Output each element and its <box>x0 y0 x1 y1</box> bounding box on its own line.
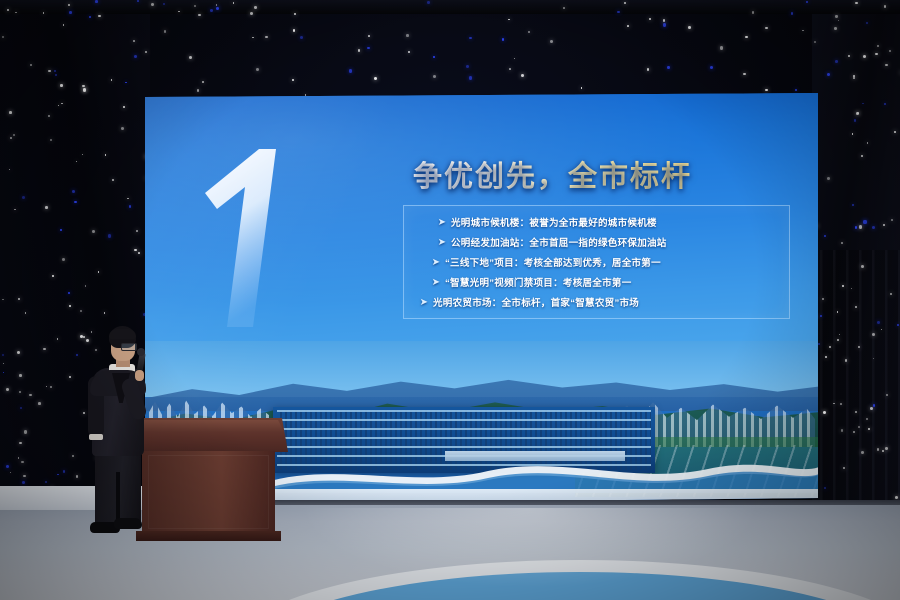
list-item-label: “智慧光明”视频门禁项目：考核居全市第一 <box>445 275 632 289</box>
speaker-leg-gap <box>116 472 120 524</box>
speaker-shoe-right <box>114 518 142 529</box>
photo-wave-roof <box>263 459 818 493</box>
speaker-hair-front <box>109 329 136 339</box>
list-item-label: 光明农贸市场：全市标杆，首家“智慧农贸”市场 <box>433 295 639 309</box>
speaker <box>78 326 158 536</box>
list-item: ➤ 公明经发加油站：全市首屈一指的绿色环保加油站 <box>413 232 813 252</box>
list-item: ➤ “智慧光明”视频门禁项目：考核居全市第一 <box>413 272 813 292</box>
podium-body <box>142 451 275 533</box>
speaker-shirt-cuff <box>89 434 103 440</box>
list-item: ➤ 光明农贸市场：全市标杆，首家“智慧农贸”市场 <box>413 292 813 312</box>
list-item-label: “三线下地”项目：考核全部达到优秀，居全市第一 <box>445 255 661 269</box>
chevron-right-icon: ➤ <box>433 217 451 228</box>
slide-bullet-list: ➤ 光明城市候机楼：被誉为全市最好的城市候机楼 ➤ 公明经发加油站：全市首屈一指… <box>413 212 813 312</box>
speaker-hand <box>135 370 144 381</box>
list-item-label: 公明经发加油站：全市首屈一指的绿色环保加油站 <box>451 235 667 249</box>
microphone-head-icon <box>137 348 145 356</box>
list-item: ➤ “三线下地”项目：考核全部达到优秀，居全市第一 <box>413 252 813 272</box>
chevron-right-icon: ➤ <box>415 297 433 308</box>
curtain-folds <box>820 250 900 520</box>
list-item: ➤ 光明城市候机楼：被誉为全市最好的城市候机楼 <box>413 212 813 232</box>
chevron-right-icon: ➤ <box>427 277 445 288</box>
chevron-right-icon: ➤ <box>427 257 445 268</box>
ceiling-band <box>0 0 900 14</box>
slide-headline: 争优创先，全市标杆 <box>413 153 692 195</box>
screenshot-root: 争优创先，全市标杆 ➤ 光明城市候机楼：被誉为全市最好的城市候机楼 ➤ 公明经发… <box>0 0 900 600</box>
glasses-icon <box>121 343 137 351</box>
list-item-label: 光明城市候机楼：被誉为全市最好的城市候机楼 <box>451 215 657 229</box>
chevron-right-icon: ➤ <box>433 237 451 248</box>
